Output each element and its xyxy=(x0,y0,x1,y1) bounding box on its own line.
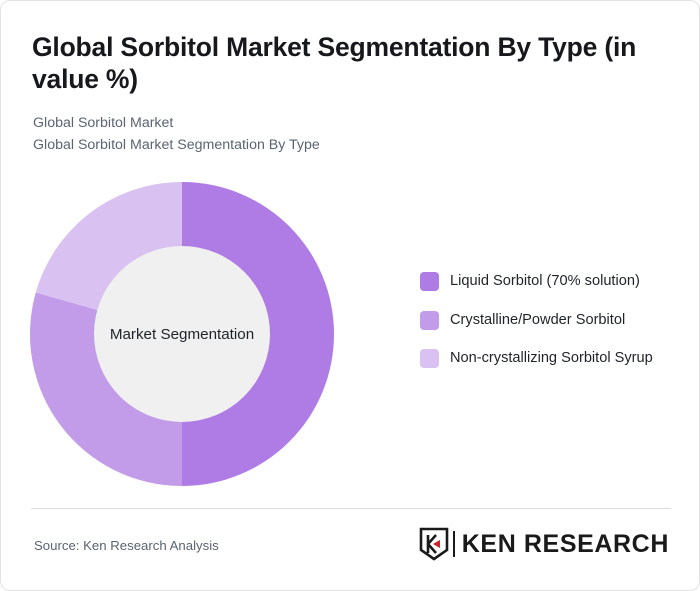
subtitle-group: Global Sorbitol Market Global Sorbitol M… xyxy=(33,113,653,156)
donut-center-hole xyxy=(94,246,270,422)
legend-swatch-icon xyxy=(420,272,439,291)
donut-chart: Market Segmentation xyxy=(30,182,334,486)
logo-wordmark: KEN RESEARCH xyxy=(462,530,669,559)
legend-item[interactable]: Liquid Sorbitol (70% solution) xyxy=(420,271,678,292)
legend-item[interactable]: Non-crystallizing Sorbitol Syrup xyxy=(420,348,678,369)
legend-item-label: Non-crystallizing Sorbitol Syrup xyxy=(450,348,653,369)
shield-logo-icon xyxy=(419,527,449,561)
ken-research-logo: KEN RESEARCH xyxy=(419,526,669,562)
legend-swatch-icon xyxy=(420,349,439,368)
subtitle-line-2: Global Sorbitol Market Segmentation By T… xyxy=(33,135,653,157)
legend-swatch-icon xyxy=(420,311,439,330)
subtitle-line-1: Global Sorbitol Market xyxy=(33,113,653,135)
legend-item-label: Liquid Sorbitol (70% solution) xyxy=(450,271,640,292)
chart-card: Global Sorbitol Market Segmentation By T… xyxy=(0,0,700,591)
donut-svg xyxy=(30,182,334,486)
legend-item[interactable]: Crystalline/Powder Sorbitol xyxy=(420,310,678,331)
chart-legend: Liquid Sorbitol (70% solution) Crystalli… xyxy=(420,271,678,369)
page-title: Global Sorbitol Market Segmentation By T… xyxy=(32,31,672,96)
footer-divider xyxy=(31,508,671,509)
source-note: Source: Ken Research Analysis xyxy=(34,538,219,553)
logo-divider xyxy=(453,531,455,557)
legend-item-label: Crystalline/Powder Sorbitol xyxy=(450,310,625,331)
